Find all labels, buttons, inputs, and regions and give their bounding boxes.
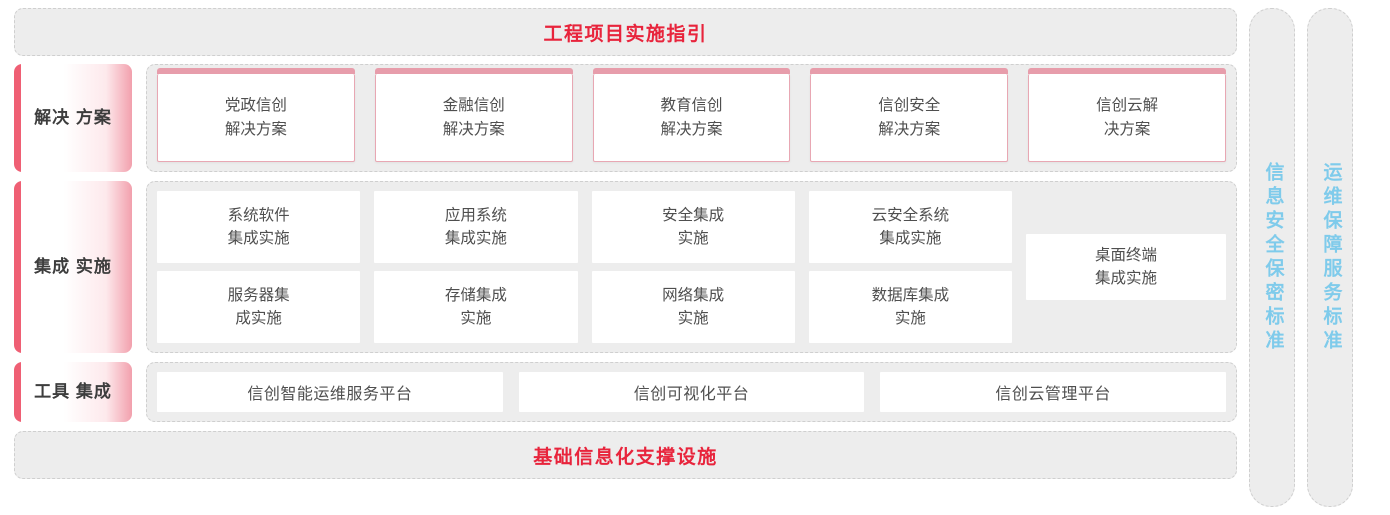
integration-card-label: 数据库集成 实施 bbox=[872, 284, 950, 331]
tools-grid: 信创智能运维服务平台 信创可视化平台 信创云管理平台 bbox=[157, 372, 1226, 412]
solution-card-label: 信创云解 决方案 bbox=[1096, 94, 1158, 141]
integration-card-label: 系统软件 集成实施 bbox=[228, 204, 290, 251]
integration-card-label: 安全集成 实施 bbox=[662, 204, 724, 251]
tools-panel: 信创智能运维服务平台 信创可视化平台 信创云管理平台 bbox=[146, 362, 1237, 422]
tool-card-label: 信创可视化平台 bbox=[634, 380, 750, 404]
integration-wrap: 系统软件 集成实施 应用系统 集成实施 安全集成 实施 云安全系统 集成实施 bbox=[157, 191, 1226, 343]
integration-card[interactable]: 系统软件 集成实施 bbox=[157, 191, 360, 263]
integration-card-desktop-terminal[interactable]: 桌面终端 集成实施 bbox=[1026, 234, 1226, 300]
integration-card[interactable]: 服务器集 成实施 bbox=[157, 271, 360, 343]
tool-card-label: 信创云管理平台 bbox=[995, 380, 1111, 404]
tool-card[interactable]: 信创智能运维服务平台 bbox=[157, 372, 503, 412]
solutions-grid: 党政信创 解决方案 金融信创 解决方案 教育信创 解决方案 信创安全 解决方案 … bbox=[157, 74, 1226, 162]
integration-row-1: 系统软件 集成实施 应用系统 集成实施 安全集成 实施 云安全系统 集成实施 bbox=[157, 191, 1012, 263]
integration-grid: 系统软件 集成实施 应用系统 集成实施 安全集成 实施 云安全系统 集成实施 bbox=[157, 191, 1012, 343]
integration-panel: 系统软件 集成实施 应用系统 集成实施 安全集成 实施 云安全系统 集成实施 bbox=[146, 181, 1237, 353]
integration-card[interactable]: 网络集成 实施 bbox=[592, 271, 795, 343]
tools-row: 工具 集成 信创智能运维服务平台 信创可视化平台 信创云管理平台 bbox=[14, 362, 1237, 422]
side-standards-column: 信息安全保密标准 运维保障服务标准 bbox=[1243, 8, 1365, 507]
solution-card-label: 信创安全 解决方案 bbox=[878, 94, 940, 141]
category-label-tools[interactable]: 工具 集成 bbox=[14, 362, 132, 422]
integration-card[interactable]: 应用系统 集成实施 bbox=[374, 191, 577, 263]
integration-card-label: 服务器集 成实施 bbox=[228, 284, 290, 331]
tool-card-label: 信创智能运维服务平台 bbox=[247, 380, 412, 404]
tool-card[interactable]: 信创可视化平台 bbox=[519, 372, 865, 412]
solution-card-label: 金融信创 解决方案 bbox=[443, 94, 505, 141]
integration-card-label: 应用系统 集成实施 bbox=[445, 204, 507, 251]
integration-card-label: 网络集成 实施 bbox=[662, 284, 724, 331]
page-title: 工程项目实施指引 bbox=[543, 19, 707, 46]
solution-card[interactable]: 教育信创 解决方案 bbox=[593, 74, 791, 162]
solution-card[interactable]: 金融信创 解决方案 bbox=[375, 74, 573, 162]
integration-card[interactable]: 云安全系统 集成实施 bbox=[809, 191, 1012, 263]
category-label-tools-text: 工具 集成 bbox=[34, 380, 112, 405]
solution-card[interactable]: 信创安全 解决方案 bbox=[810, 74, 1008, 162]
integration-card-label: 存储集成 实施 bbox=[445, 284, 507, 331]
integration-card[interactable]: 数据库集成 实施 bbox=[809, 271, 1012, 343]
integration-card[interactable]: 存储集成 实施 bbox=[374, 271, 577, 343]
footer-title: 基础信息化支撑设施 bbox=[533, 442, 718, 469]
integration-card[interactable]: 安全集成 实施 bbox=[592, 191, 795, 263]
side-panel-ops-standard-label: 运维保障服务标准 bbox=[1320, 162, 1341, 354]
side-panel-security-standard[interactable]: 信息安全保密标准 bbox=[1249, 8, 1295, 507]
solutions-row: 解决 方案 党政信创 解决方案 金融信创 解决方案 教育信创 解决方案 信创安全… bbox=[14, 64, 1237, 172]
solution-card-label: 党政信创 解决方案 bbox=[225, 94, 287, 141]
solution-card[interactable]: 党政信创 解决方案 bbox=[157, 74, 355, 162]
tool-card[interactable]: 信创云管理平台 bbox=[880, 372, 1226, 412]
category-label-solutions[interactable]: 解决 方案 bbox=[14, 64, 132, 172]
top-banner: 工程项目实施指引 bbox=[14, 8, 1237, 56]
integration-card-label: 云安全系统 集成实施 bbox=[872, 204, 950, 251]
category-label-solutions-text: 解决 方案 bbox=[34, 106, 112, 131]
category-label-integration[interactable]: 集成 实施 bbox=[14, 181, 132, 353]
integration-tall-card-wrap: 桌面终端 集成实施 bbox=[1026, 191, 1226, 343]
side-panel-ops-standard[interactable]: 运维保障服务标准 bbox=[1307, 8, 1353, 507]
side-panel-security-standard-label: 信息安全保密标准 bbox=[1262, 162, 1283, 354]
integration-row: 集成 实施 系统软件 集成实施 应用系统 集成实施 安全集成 bbox=[14, 181, 1237, 353]
category-label-integration-text: 集成 实施 bbox=[34, 255, 112, 280]
integration-card-label: 桌面终端 集成实施 bbox=[1095, 244, 1157, 291]
main-column: 工程项目实施指引 解决 方案 党政信创 解决方案 金融信创 解决方案 教育信创 … bbox=[0, 8, 1243, 507]
integration-row-2: 服务器集 成实施 存储集成 实施 网络集成 实施 数据库集成 实施 bbox=[157, 271, 1012, 343]
solution-card[interactable]: 信创云解 决方案 bbox=[1028, 74, 1226, 162]
diagram-root: 工程项目实施指引 解决 方案 党政信创 解决方案 金融信创 解决方案 教育信创 … bbox=[0, 0, 1390, 515]
solution-card-label: 教育信创 解决方案 bbox=[660, 94, 722, 141]
solutions-panel: 党政信创 解决方案 金融信创 解决方案 教育信创 解决方案 信创安全 解决方案 … bbox=[146, 64, 1237, 172]
bottom-banner: 基础信息化支撑设施 bbox=[14, 431, 1237, 479]
